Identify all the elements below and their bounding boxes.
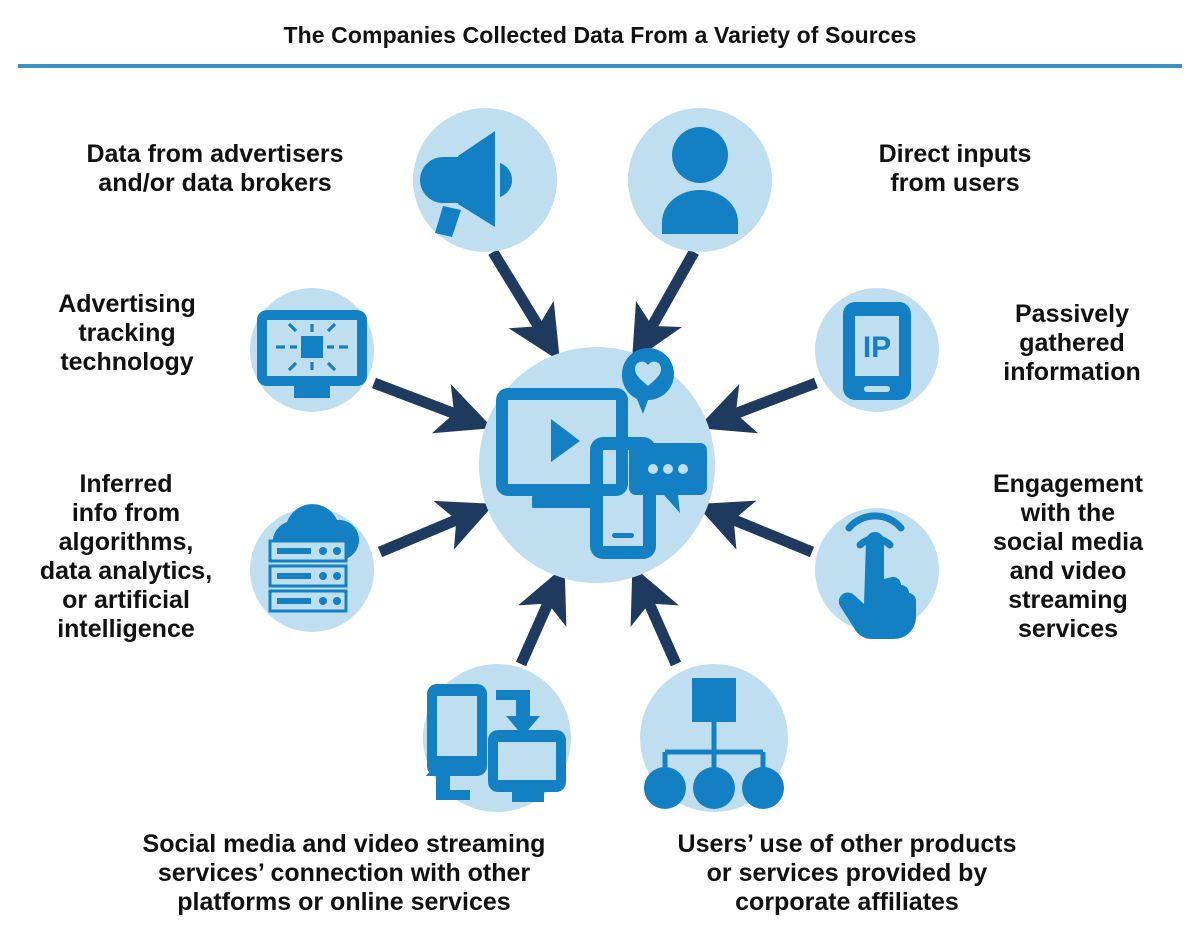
arrow-from-advertisers bbox=[493, 252, 545, 337]
label-corporate-affiliates: Users’ use of other products or services… bbox=[612, 830, 1082, 917]
label-platform-connection: Social media and video streaming service… bbox=[68, 830, 620, 917]
label-ad-tracking: Advertising tracking technology bbox=[22, 290, 232, 377]
label-engagement: Engagement with the social media and vid… bbox=[950, 470, 1186, 644]
label-passive-info: Passively gathered information bbox=[962, 300, 1182, 387]
label-advertisers: Data from advertisers and/or data broker… bbox=[40, 140, 390, 198]
center-node bbox=[479, 347, 715, 583]
node-engagement[interactable] bbox=[815, 508, 939, 639]
label-direct-inputs: Direct inputs from users bbox=[810, 140, 1100, 198]
arrow-from-passive-info bbox=[724, 383, 816, 418]
node-corporate-affiliates[interactable] bbox=[640, 664, 788, 812]
label-inferred-info: Inferred info from algorithms, data anal… bbox=[20, 470, 232, 644]
arrow-from-direct-inputs bbox=[646, 252, 694, 337]
node-passive-info[interactable]: IP bbox=[815, 288, 939, 412]
node-platform-connection[interactable] bbox=[423, 664, 571, 812]
node-advertisers[interactable] bbox=[413, 108, 557, 252]
infographic-root: The Companies Collected Data From a Vari… bbox=[0, 0, 1200, 950]
node-inferred-info[interactable] bbox=[250, 504, 374, 632]
node-direct-inputs[interactable] bbox=[628, 108, 772, 252]
node-ad-tracking[interactable] bbox=[250, 288, 374, 412]
arrow-from-inferred bbox=[380, 515, 468, 552]
arrow-from-engagement bbox=[722, 515, 812, 552]
arrow-from-corporate-affiliates bbox=[644, 592, 676, 664]
arrow-from-platform-connection bbox=[521, 592, 553, 664]
ip-phone-label: IP bbox=[863, 331, 891, 364]
arrow-from-ad-tracking bbox=[374, 383, 466, 418]
